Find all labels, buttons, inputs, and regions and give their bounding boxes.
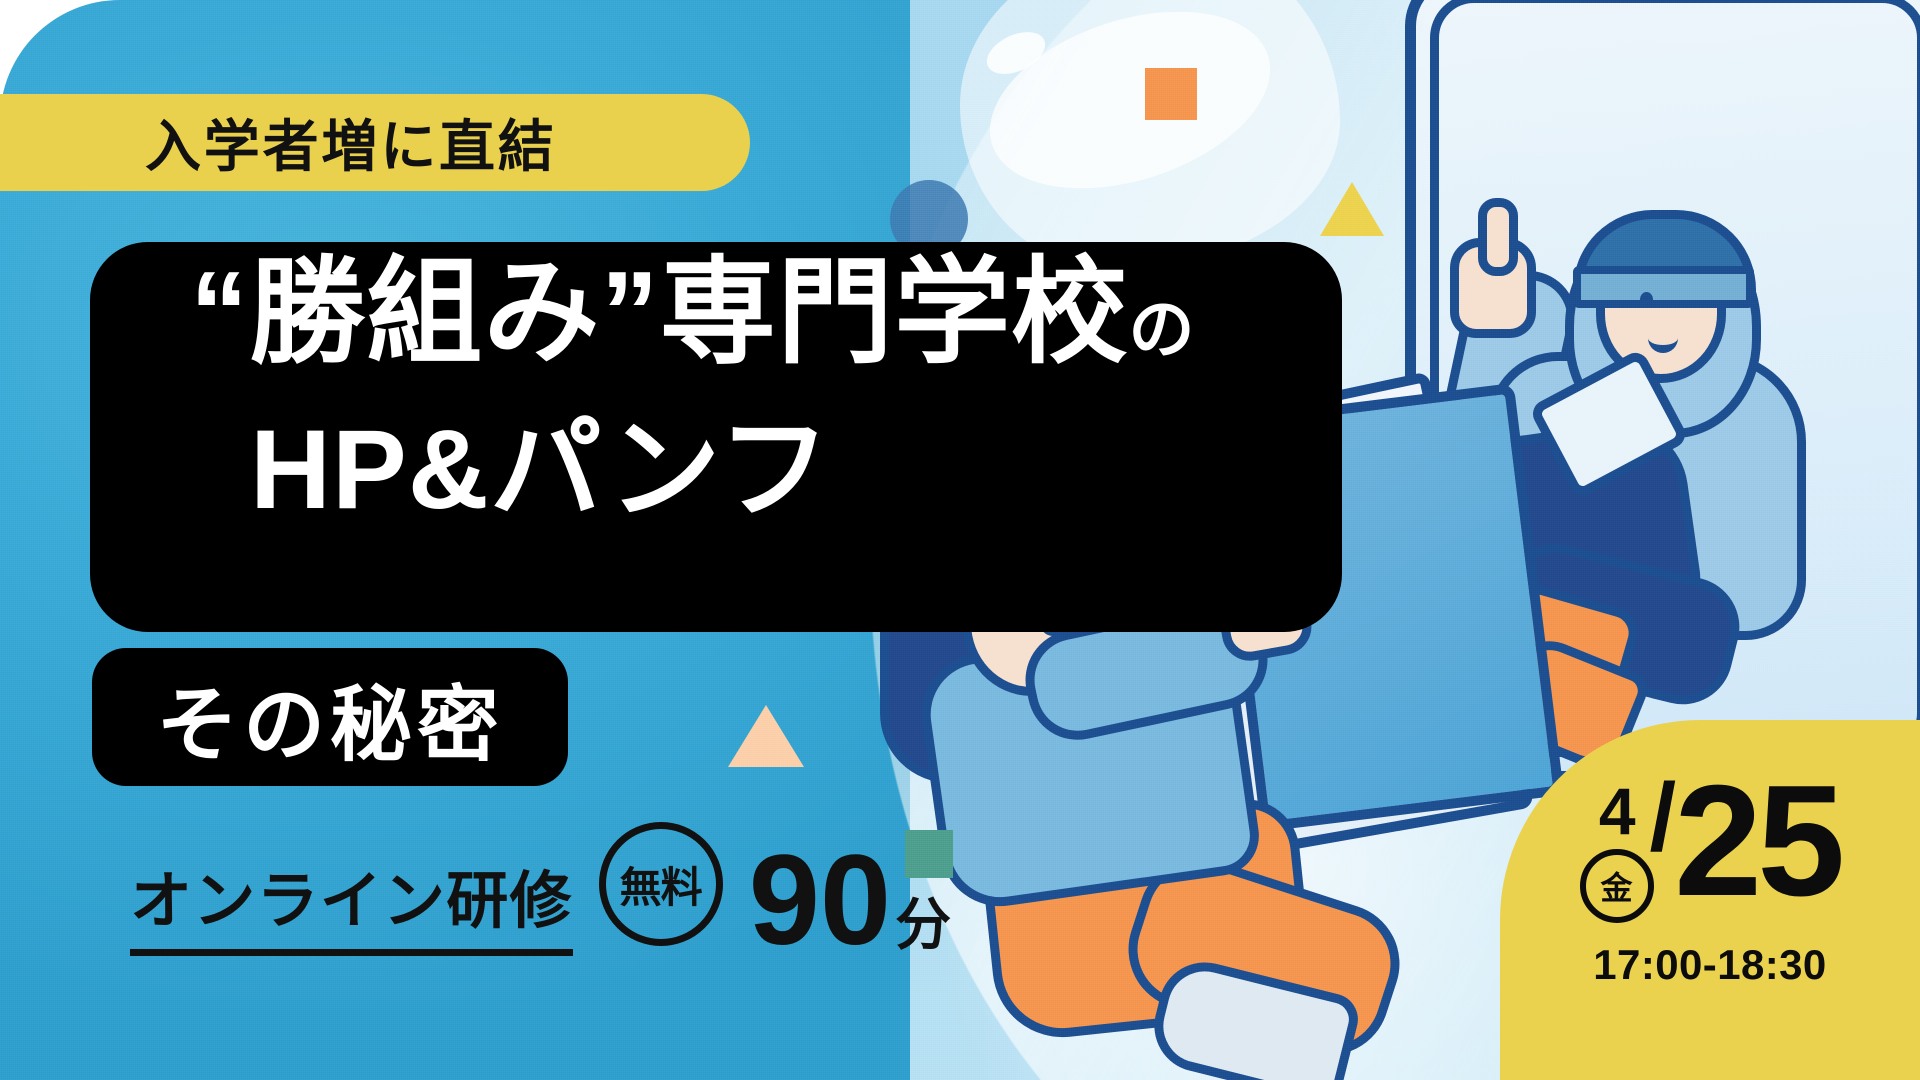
date-month: 4 <box>1599 780 1634 843</box>
headline-line-1-suffix: の <box>1128 292 1195 366</box>
subheadline-pill: その秘密 <box>92 648 568 786</box>
date-main: 4 金 / 25 <box>1580 774 1841 923</box>
headline-line-1: “勝組み”専門学校の <box>190 254 1196 370</box>
date-day: 25 <box>1674 774 1840 910</box>
peach-triangle-icon <box>728 705 804 767</box>
duration-unit: 分 <box>895 901 951 949</box>
weekday-label: 金 <box>1601 863 1633 909</box>
weekday-circle: 金 <box>1580 849 1654 923</box>
orange-square-icon <box>1145 68 1197 120</box>
duration: 90 分 <box>749 846 951 956</box>
person-a-pointing-finger <box>1478 198 1518 276</box>
duration-number: 90 <box>749 846 891 956</box>
free-badge-label: 無料 <box>620 854 702 915</box>
date-badge: 4 金 / 25 17:00-18:30 <box>1500 720 1920 1080</box>
promo-banner: 入学者増に直結 “勝組み”専門学校の HP&パンフ その秘密 オンライン研修 無… <box>0 0 1920 1080</box>
free-badge: 無料 <box>599 822 723 946</box>
headline-line-2: HP&パンフ <box>250 414 831 526</box>
subheadline-text: その秘密 <box>156 658 504 777</box>
person-a-eye <box>1640 292 1653 307</box>
online-training-label: オンライン研修 <box>130 850 573 956</box>
eyebrow-ribbon: 入学者増に直結 <box>0 94 750 191</box>
person-a-beanie-band <box>1573 266 1754 308</box>
info-row: オンライン研修 無料 90 分 <box>130 822 951 956</box>
eyebrow-text: 入学者増に直結 <box>145 102 557 183</box>
date-slash: / <box>1650 770 1677 866</box>
headline-line-1-main: “勝組み”専門学校 <box>190 247 1128 377</box>
yellow-triangle-icon <box>1320 182 1384 236</box>
event-time: 17:00-18:30 <box>1593 941 1826 989</box>
date-month-weekday: 4 金 <box>1580 780 1654 923</box>
headline-box: “勝組み”専門学校の HP&パンフ <box>90 242 1342 632</box>
